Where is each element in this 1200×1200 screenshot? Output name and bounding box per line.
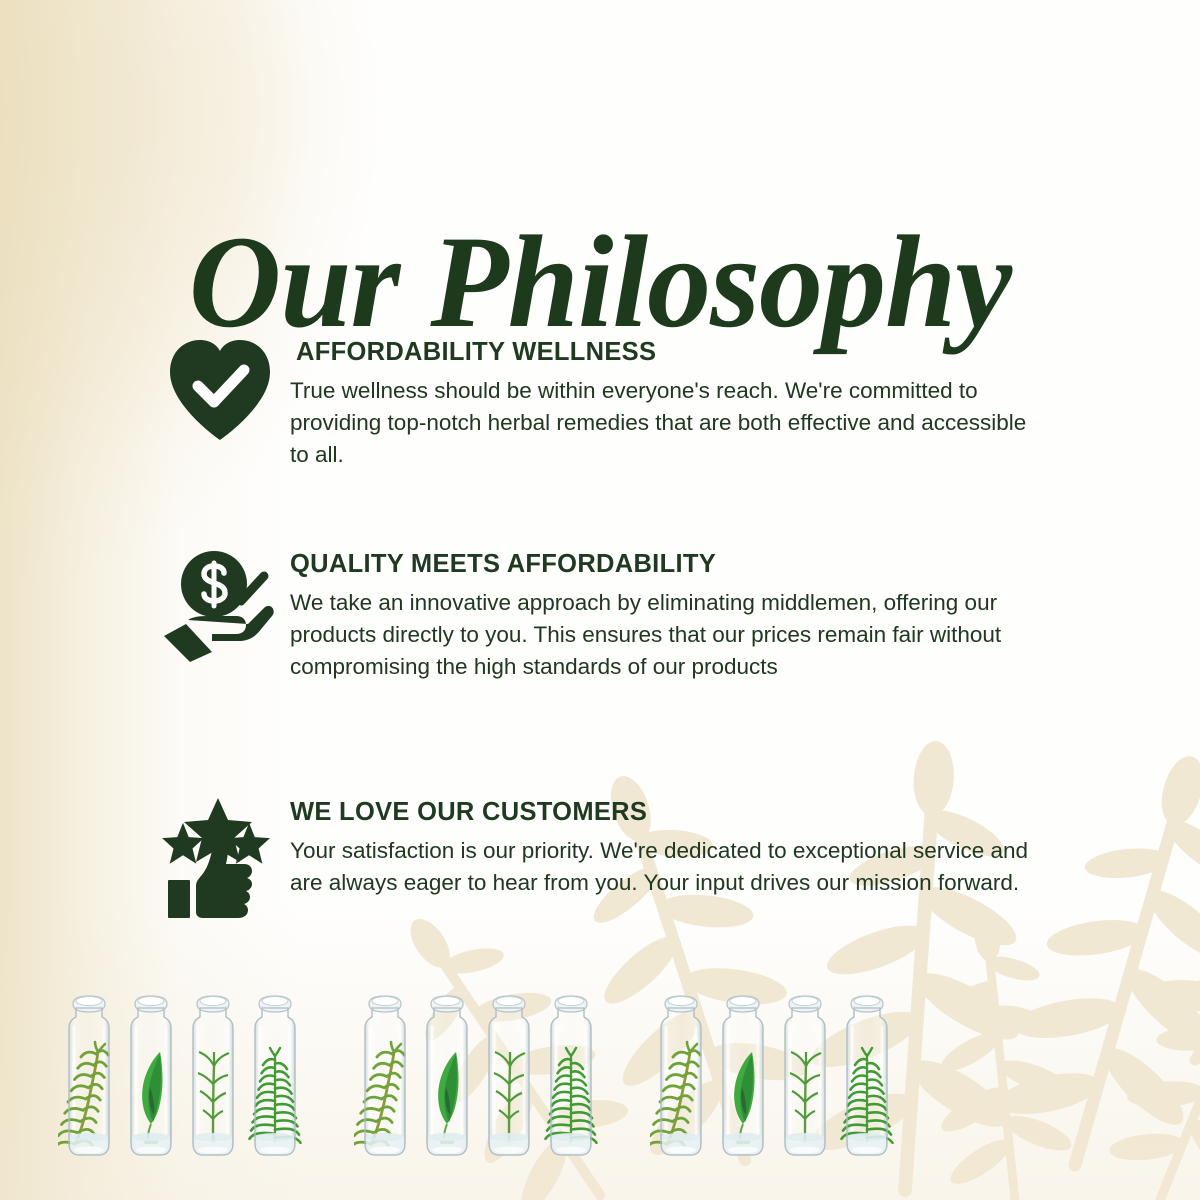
three-stars-thumbs-up-icon [150,796,290,920]
philosophy-page: Our Philosophy AFFORDABILITY WELLNESS Tr… [0,0,1200,1200]
herb-vials-row [0,978,1200,1158]
feature-title: WE LOVE OUR CUSTOMERS [290,798,1090,827]
feature-body: QUALITY MEETS AFFORDABILITY We take an i… [290,548,1090,683]
herb-vial [540,992,602,1158]
feature-row-affordability-wellness: AFFORDABILITY WELLNESS True wellness sho… [150,336,1090,471]
feature-row-quality-meets-affordability: QUALITY MEETS AFFORDABILITY We take an i… [150,548,1090,683]
herb-vial [244,992,306,1158]
feature-description: We take an innovative approach by elimin… [290,587,1050,683]
feature-body: AFFORDABILITY WELLNESS True wellness sho… [290,336,1090,471]
vial-group [58,992,306,1158]
feature-row-we-love-our-customers: WE LOVE OUR CUSTOMERS Your satisfaction … [150,796,1090,920]
feature-description: True wellness should be within everyone'… [290,375,1050,471]
herb-vial [58,992,120,1158]
herb-vial [478,992,540,1158]
vial-group [650,992,898,1158]
feature-title: QUALITY MEETS AFFORDABILITY [290,550,1090,579]
herb-vial [354,992,416,1158]
page-title: Our Philosophy [18,216,1182,348]
feature-description: Your satisfaction is our priority. We're… [290,835,1050,899]
herb-vial [416,992,478,1158]
herb-vial [836,992,898,1158]
herb-vial [774,992,836,1158]
vial-group [354,992,602,1158]
herb-vial [650,992,712,1158]
herb-vial [182,992,244,1158]
hand-holding-dollar-check-icon [150,548,290,666]
feature-body: WE LOVE OUR CUSTOMERS Your satisfaction … [290,796,1090,899]
herb-vial [712,992,774,1158]
feature-title: AFFORDABILITY WELLNESS [290,338,1090,367]
herb-vial [120,992,182,1158]
heart-check-icon [150,336,290,444]
